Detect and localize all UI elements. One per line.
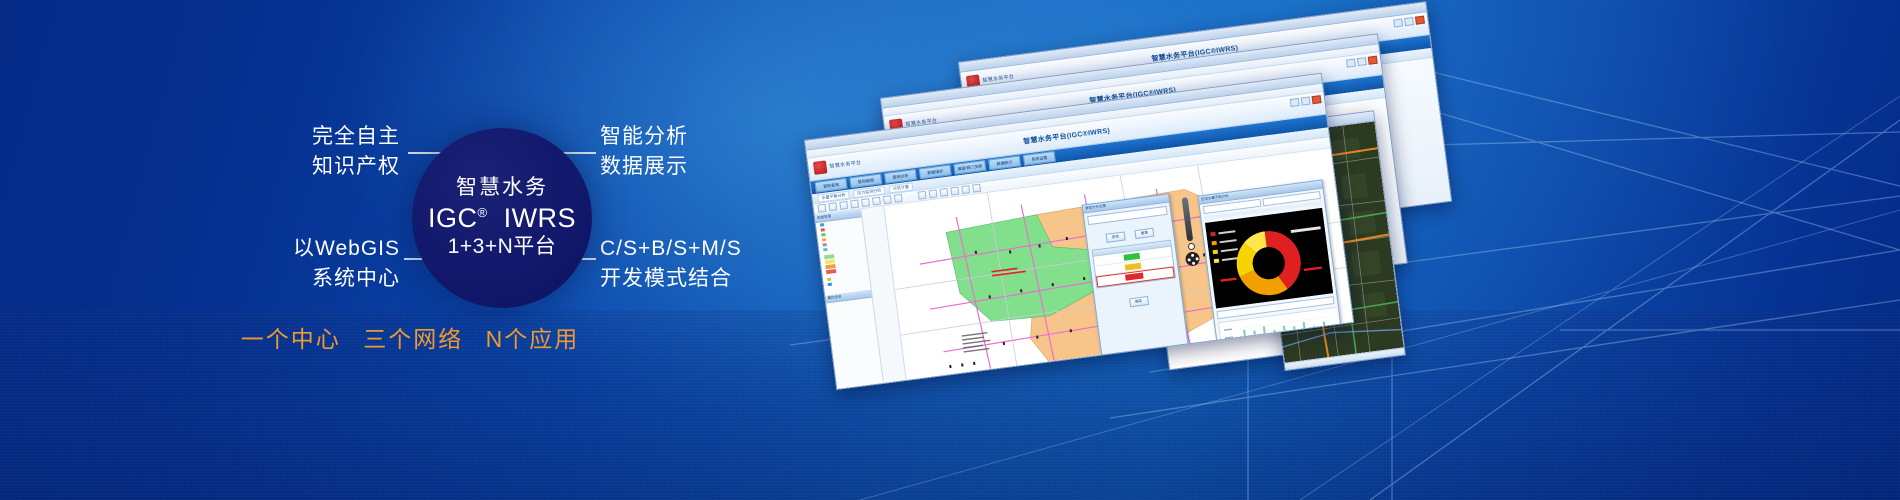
circle-title-en: IGC® IWRS (428, 204, 576, 232)
label-top-right-line1: 智能分析 (600, 122, 688, 152)
donut-chart-svg (1205, 208, 1333, 308)
circle-title-cn: 智慧水务 (456, 176, 548, 199)
zoom-out-icon[interactable] (861, 198, 870, 207)
tagline-part3: N个应用 (486, 326, 580, 352)
circle-brand-iwrs: IWRS (504, 203, 577, 233)
zoom-slider-handle[interactable] (1187, 243, 1195, 251)
menu-file[interactable] (811, 151, 814, 155)
burst-analysis-dialog-body: 查询 重置 (1084, 202, 1183, 316)
label-top-left-line1: 完全自主 (300, 122, 400, 152)
confirm-button[interactable]: 确定 (1129, 296, 1149, 307)
menu-view[interactable] (824, 150, 827, 154)
label-bottom-right: C/S+B/S+M/S 开发模式结合 (600, 234, 742, 295)
banner-root: 完全自主 知识产权 以WebGIS 系统中心 智能分析 数据展示 C/S+B/S… (0, 0, 1900, 500)
minimize-icon[interactable] (1393, 18, 1403, 27)
tagline-part2: 三个网络 (363, 326, 463, 352)
tagline: 一个中心 三个网络 N个应用 (0, 320, 820, 354)
layer-icon[interactable] (939, 188, 948, 197)
maximize-icon[interactable] (1404, 17, 1414, 26)
trademark-icon: ® (477, 205, 487, 220)
print-icon[interactable] (839, 201, 848, 210)
maximize-icon[interactable] (1357, 57, 1367, 66)
label-bottom-right-line2: 开发模式结合 (600, 264, 742, 294)
donut-chart-container (1205, 208, 1333, 308)
maximize-icon[interactable] (1301, 97, 1311, 106)
label-top-left: 完全自主 知识产权 (300, 122, 400, 183)
label-top-right-line2: 数据展示 (600, 152, 688, 182)
save-icon[interactable] (828, 202, 837, 211)
label-bottom-left: 以WebGIS 系统中心 (290, 234, 400, 295)
pan-icon[interactable] (872, 197, 881, 206)
select-icon[interactable] (883, 195, 892, 204)
menu-help[interactable] (831, 149, 834, 153)
close-icon[interactable] (1368, 56, 1378, 65)
identify-icon[interactable] (929, 189, 938, 198)
legend-icon[interactable] (950, 187, 959, 196)
circle-platform-text: 1+3+N平台 (448, 234, 557, 260)
window-back-menu-text (962, 64, 964, 69)
zoom-in-icon[interactable] (850, 200, 859, 209)
screenshot-stack: 智慧水务平台 智慧水务平台(IGC®IWRS) 管网查询 管网编辑 管网分析 数… (790, 40, 1900, 400)
label-top-right: 智能分析 数据展示 (600, 122, 688, 183)
label-bottom-right-line1: C/S+B/S+M/S (600, 234, 742, 264)
burst-analysis-table[interactable] (1092, 240, 1176, 289)
window-front-menu-text (808, 142, 810, 147)
infographic: 完全自主 知识产权 以WebGIS 系统中心 智能分析 数据展示 C/S+B/S… (0, 0, 820, 500)
center-circle-badge: 智慧水务 IGC® IWRS 1+3+N平台 (412, 128, 592, 308)
open-icon[interactable] (817, 204, 826, 213)
label-top-left-line2: 知识产权 (300, 152, 400, 182)
query-button[interactable]: 查询 (1105, 232, 1125, 243)
window-mid-menu-text (884, 100, 886, 105)
label-bottom-left-line1: 以WebGIS (290, 234, 400, 264)
menu-edit[interactable] (817, 150, 820, 154)
export-icon[interactable] (972, 184, 981, 193)
label-bottom-left-line2: 系统中心 (290, 264, 400, 294)
close-icon[interactable] (1312, 95, 1322, 104)
zoom-slider[interactable] (1182, 197, 1194, 241)
label-icon[interactable] (961, 185, 970, 194)
minimize-icon[interactable] (1290, 98, 1300, 107)
reset-button[interactable]: 重置 (1135, 228, 1155, 239)
pan-compass-icon[interactable] (1185, 251, 1201, 267)
measure-icon[interactable] (894, 194, 903, 203)
query-icon[interactable] (918, 191, 927, 200)
minimize-icon[interactable] (1346, 59, 1356, 68)
tagline-part1: 一个中心 (241, 326, 341, 352)
menu-file[interactable] (887, 110, 888, 114)
circle-brand-igc: IGC (428, 203, 478, 233)
close-icon[interactable] (1415, 16, 1425, 25)
